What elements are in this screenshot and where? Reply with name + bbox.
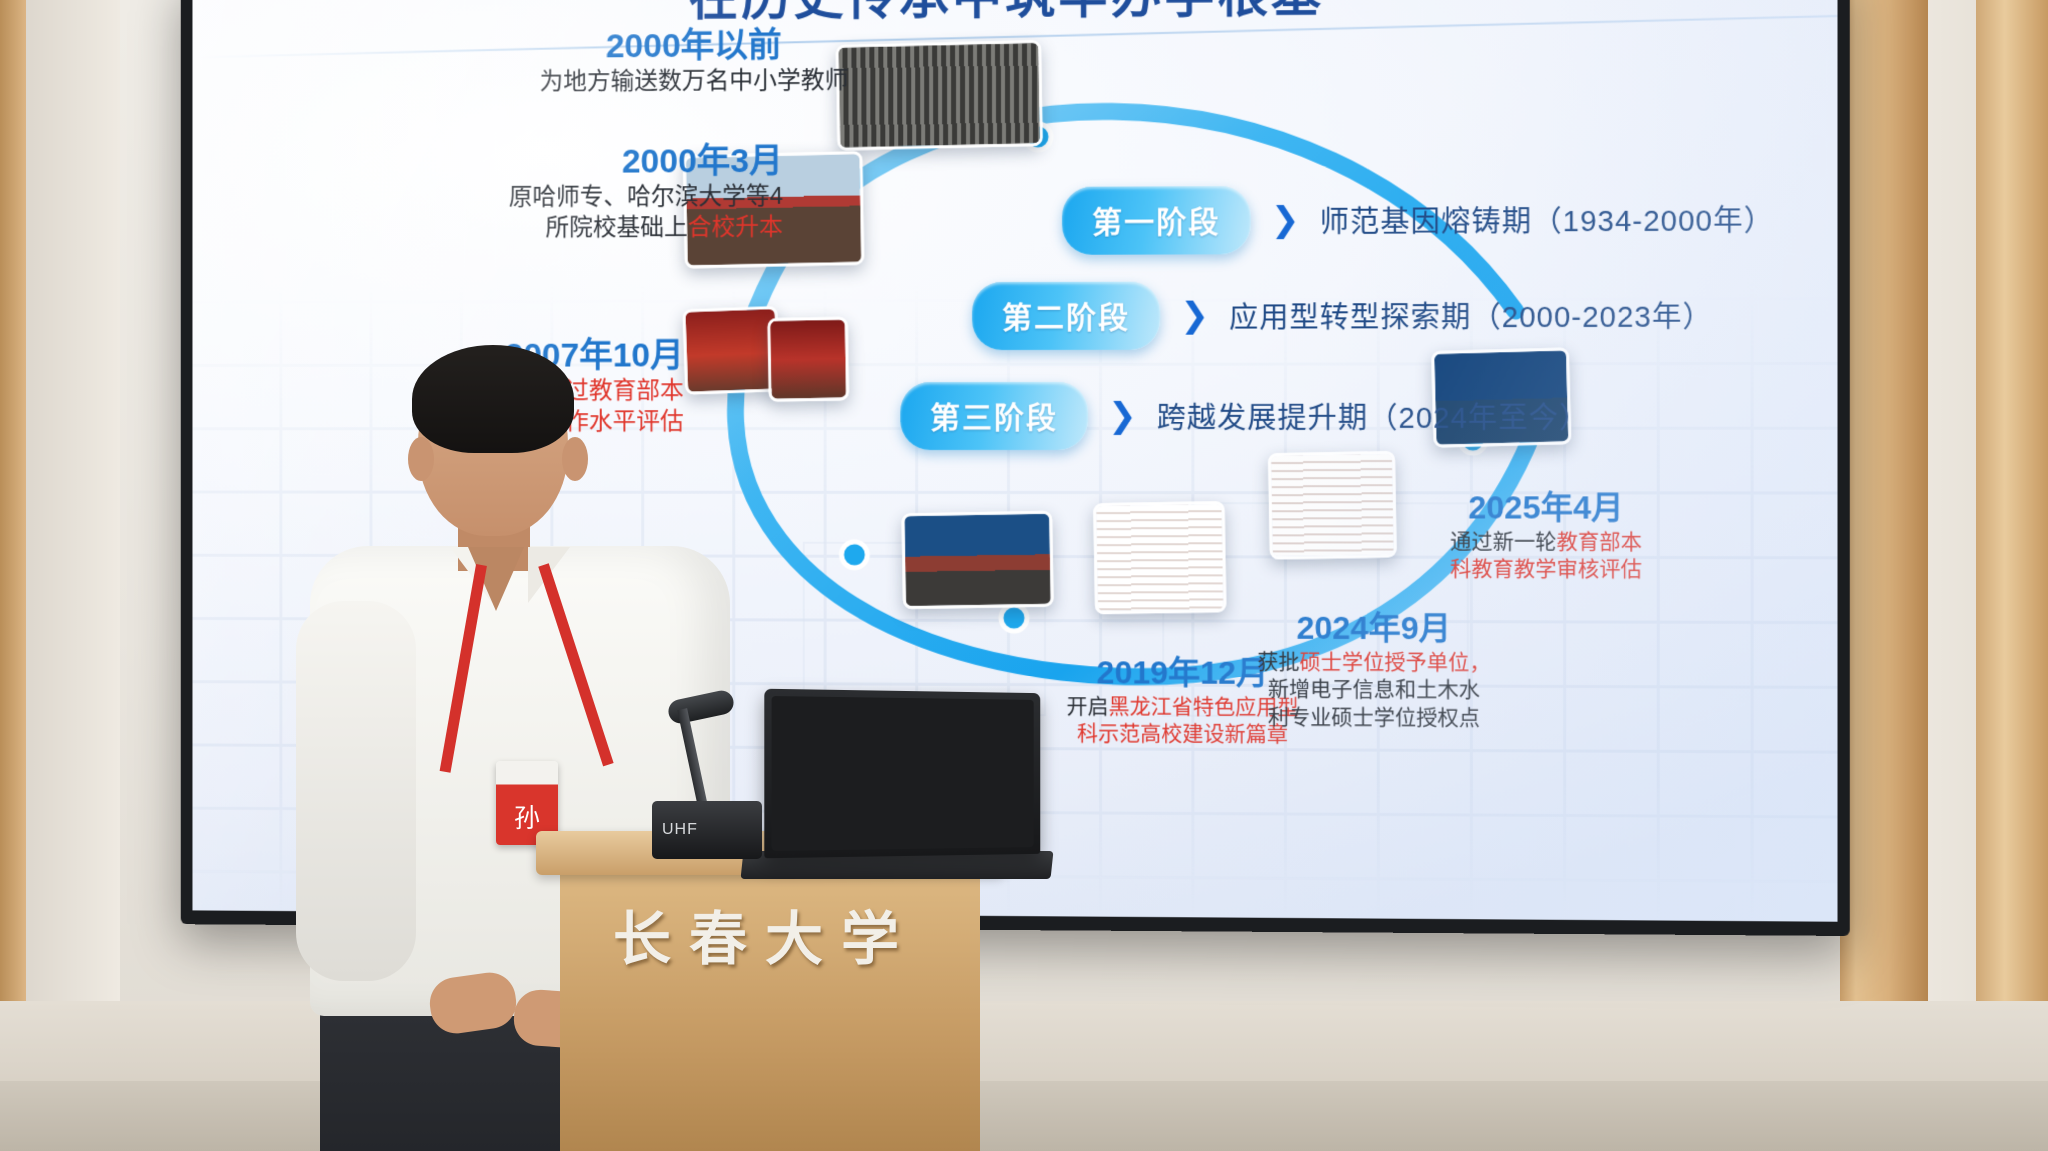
timeline-entry-2000-03: 2000年3月 原哈师专、哈尔滨大学等4 所院校基础上合校升本 <box>320 133 783 244</box>
microphone-label: UHF <box>662 821 698 839</box>
venue-sign: 长 春 大 学 <box>606 891 906 977</box>
phase-badge-2[interactable]: 第二阶段 <box>972 282 1160 350</box>
phase-row-2: 第二阶段 ❯ 应用型转型探索期（2000-2023年） <box>972 280 1713 350</box>
microphone-base: UHF <box>652 801 762 859</box>
wood-pillar-far-right <box>1976 0 2048 1151</box>
wood-trim-left <box>0 0 26 1151</box>
venue-sign-char-1: 长 <box>613 892 671 976</box>
phase-description-3: 跨越发展提升期（2024年至今） <box>1157 395 1590 437</box>
microphone[interactable]: UHF <box>652 714 762 859</box>
highlight-text: 合校升本 <box>688 213 783 240</box>
phase-row-1: 第一阶段 ❯ 师范基因熔铸期（1934-2000年） <box>1062 184 1774 255</box>
photo-award-ceremony-b <box>767 317 849 402</box>
photo-document-approval <box>1093 501 1226 614</box>
presenter-ear-right <box>562 437 588 481</box>
chevron-right-icon: ❯ <box>1180 299 1209 333</box>
presenter-ear-left <box>408 437 434 481</box>
presenter-left-arm <box>296 601 416 981</box>
timeline-entry-2025-04: 2025年4月 通过新一轮教育部本 科教育教学审核评估 <box>1394 482 1699 584</box>
chevron-right-icon: ❯ <box>1108 399 1137 433</box>
venue-sign-char-2: 春 <box>689 892 747 976</box>
highlight-text: 硕士学位授予单位， <box>1300 651 1491 675</box>
timeline-entry-2024-09: 2024年9月 获批硕士学位授予单位， 新增电子信息和土木水 利专业硕士学位授权… <box>1212 602 1535 732</box>
phase-row-3: 第三阶段 ❯ 跨越发展提升期（2024年至今） <box>900 381 1589 450</box>
timeline-desc: 为地方输送数万名中小学教师 <box>486 66 902 99</box>
laptop[interactable] <box>764 689 1040 859</box>
lectern: 长 春 大 学 <box>536 831 1004 1151</box>
timeline-date: 2025年4月 <box>1394 482 1699 529</box>
timeline-desc: 通过新一轮教育部本 科教育教学审核评估 <box>1394 528 1699 584</box>
phase-description-2: 应用型转型探索期（2000-2023年） <box>1229 293 1713 336</box>
presentation-room-scene: 在历史传承中筑牢办学根基 <box>0 0 2048 1151</box>
timeline-date: 2000年以前 <box>486 17 902 68</box>
timeline-entry-2000-before: 2000年以前 为地方输送数万名中小学教师 <box>486 17 902 99</box>
microphone-stem <box>677 708 708 808</box>
chevron-right-icon: ❯ <box>1271 203 1300 237</box>
phase-description-1: 师范基因熔铸期（1934-2000年） <box>1320 197 1775 241</box>
photo-conference-auditorium <box>901 511 1053 609</box>
phase-badge-1[interactable]: 第一阶段 <box>1062 186 1251 255</box>
venue-sign-char-3: 大 <box>765 892 823 976</box>
timeline-desc: 原哈师专、哈尔滨大学等4 所院校基础上合校升本 <box>320 182 783 245</box>
wood-pillar-right <box>1840 0 1928 1151</box>
venue-sign-char-4: 学 <box>841 892 899 976</box>
presenter-hair <box>412 345 574 453</box>
photo-certificate-document <box>1268 451 1397 560</box>
timeline-date: 2024年9月 <box>1212 602 1535 649</box>
timeline-desc: 获批硕士学位授予单位， 新增电子信息和土木水 利专业硕士学位授权点 <box>1212 649 1535 732</box>
highlight-text: 教育部本 <box>1557 531 1642 554</box>
phase-badge-3[interactable]: 第三阶段 <box>900 382 1088 450</box>
timeline-date: 2000年3月 <box>320 133 783 184</box>
